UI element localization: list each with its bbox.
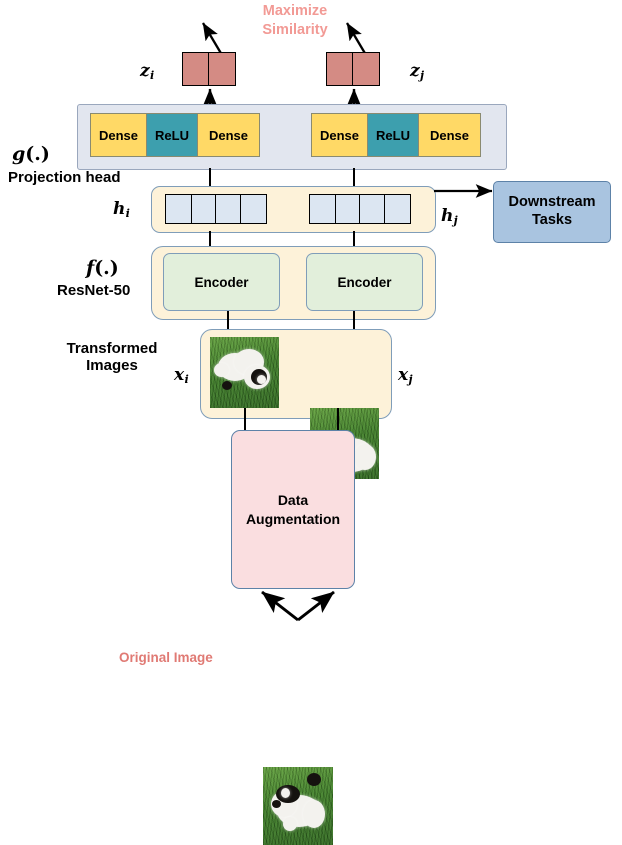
augmentation-input-arrows [0,0,622,701]
original-image [263,767,333,845]
arrow-original-to-aug-left [262,592,298,620]
original-image-label: Original Image [119,650,213,665]
simclr-diagram: Maximize Similarity zi zj Dense ReLU [0,0,622,701]
arrow-original-to-aug-right [298,592,334,620]
